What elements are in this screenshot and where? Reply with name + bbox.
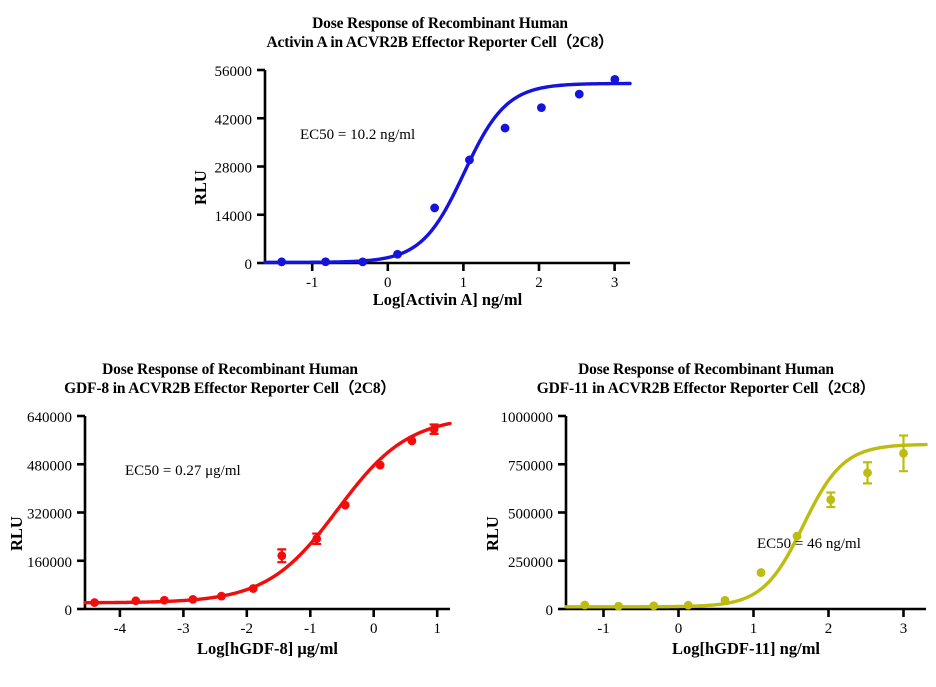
panel-title-gdf-8: Dose Response of Recombinant Human GDF-8… bbox=[0, 360, 460, 398]
x-tick-label: -1 bbox=[597, 621, 610, 634]
y-tick-label: 28000 bbox=[215, 161, 253, 177]
data-point bbox=[277, 257, 286, 266]
data-point bbox=[277, 551, 286, 560]
x-axis-gdf-11: -1 0 1 2 3 bbox=[566, 609, 926, 634]
x-tick-label: -2 bbox=[241, 621, 254, 634]
panel-title-gdf-11: Dose Response of Recombinant Human GDF-1… bbox=[476, 360, 936, 398]
y-tick-label: 250000 bbox=[508, 555, 553, 571]
panel-activin-a: Dose Response of Recombinant Human Activ… bbox=[180, 14, 700, 334]
y-tick-label: 0 bbox=[65, 603, 73, 619]
x-tick-label: 1 bbox=[433, 621, 441, 634]
x-tick-label: -3 bbox=[177, 621, 190, 634]
x-axis-activin-a: -1 0 1 2 3 bbox=[265, 263, 630, 288]
data-point bbox=[393, 250, 402, 259]
plot-area-gdf-11: 1000000 750000 500000 250000 0 -1 bbox=[476, 404, 936, 634]
panel-title-line1: Dose Response of Recombinant Human bbox=[0, 360, 460, 379]
panel-title-activin-a: Dose Response of Recombinant Human Activ… bbox=[180, 14, 700, 52]
x-tick-label: 0 bbox=[384, 275, 392, 288]
y-tick-label: 320000 bbox=[27, 507, 72, 523]
x-axis-label-activin-a: Log[Activin A] ng/ml bbox=[265, 290, 630, 310]
data-point bbox=[376, 461, 385, 470]
data-point bbox=[312, 534, 321, 543]
panel-title-line2: GDF-8 in ACVR2B Effector Reporter Cell（2… bbox=[0, 379, 460, 398]
panel-title-line1: Dose Response of Recombinant Human bbox=[180, 14, 700, 33]
y-tick-label: 0 bbox=[245, 257, 253, 273]
y-tick-label: 56000 bbox=[215, 64, 253, 80]
panel-title-line2: GDF-11 in ACVR2B Effector Reporter Cell（… bbox=[476, 379, 936, 398]
data-point bbox=[575, 90, 584, 99]
ec50-annotation-gdf-11: EC50 = 46 ng/ml bbox=[757, 536, 861, 552]
plot-area-activin-a: 56000 42000 28000 14000 0 -1 bbox=[180, 58, 700, 288]
chart-svg-gdf-11: 1000000 750000 500000 250000 0 -1 bbox=[476, 404, 936, 634]
data-point bbox=[408, 436, 417, 445]
y-axis-label-gdf-11: RLU bbox=[483, 461, 503, 551]
data-point bbox=[321, 257, 330, 266]
data-point bbox=[465, 156, 474, 165]
x-axis-label-gdf-8: Log[hGDF-8] μg/ml bbox=[85, 639, 450, 659]
data-point bbox=[189, 595, 198, 604]
data-points-gdf-11 bbox=[580, 435, 908, 610]
chart-svg-gdf-8: 640000 480000 320000 160000 0 bbox=[0, 404, 460, 634]
y-tick-label: 500000 bbox=[508, 507, 553, 523]
y-tick-label: 42000 bbox=[215, 112, 253, 128]
plot-area-gdf-8: 640000 480000 320000 160000 0 bbox=[0, 404, 460, 634]
data-point bbox=[249, 584, 258, 593]
data-point bbox=[614, 602, 623, 611]
x-tick-label: -1 bbox=[306, 275, 319, 288]
fit-curve-activin-a bbox=[265, 84, 630, 263]
x-tick-label: 1 bbox=[460, 275, 468, 288]
x-tick-label: -1 bbox=[304, 621, 317, 634]
y-tick-label: 0 bbox=[546, 603, 554, 619]
ec50-annotation-activin-a: EC50 = 10.2 ng/ml bbox=[300, 127, 415, 143]
data-point bbox=[610, 75, 619, 84]
data-point bbox=[501, 124, 510, 133]
panel-title-line1: Dose Response of Recombinant Human bbox=[476, 360, 936, 379]
data-point bbox=[649, 601, 658, 610]
data-point bbox=[721, 596, 730, 605]
ec50-annotation-gdf-8: EC50 = 0.27 μg/ml bbox=[125, 463, 241, 479]
y-axis-gdf-8: 640000 480000 320000 160000 0 bbox=[27, 410, 85, 619]
y-axis-activin-a: 56000 42000 28000 14000 0 bbox=[215, 64, 266, 273]
x-tick-label: 1 bbox=[750, 621, 758, 634]
data-point bbox=[757, 568, 766, 577]
data-point bbox=[217, 592, 226, 601]
data-point bbox=[537, 103, 546, 112]
data-point bbox=[90, 598, 99, 607]
data-point bbox=[580, 601, 589, 610]
panel-gdf-11: Dose Response of Recombinant Human GDF-1… bbox=[476, 360, 936, 680]
x-tick-label: 3 bbox=[611, 275, 619, 288]
data-points-activin-a bbox=[277, 75, 619, 266]
x-tick-label: 0 bbox=[675, 621, 683, 634]
y-tick-label: 14000 bbox=[215, 209, 253, 225]
data-point bbox=[863, 468, 872, 477]
data-point bbox=[899, 449, 908, 458]
chart-svg-activin-a: 56000 42000 28000 14000 0 -1 bbox=[180, 58, 640, 288]
fit-curve-gdf-11 bbox=[566, 445, 926, 607]
data-point bbox=[430, 425, 439, 434]
x-axis-gdf-8: -4 -3 -2 -1 0 1 bbox=[85, 609, 450, 634]
data-point bbox=[358, 257, 367, 266]
y-axis-gdf-11: 1000000 750000 500000 250000 0 bbox=[501, 410, 567, 619]
y-tick-label: 640000 bbox=[27, 410, 72, 426]
data-point bbox=[826, 495, 835, 504]
panel-gdf-8: Dose Response of Recombinant Human GDF-8… bbox=[0, 360, 460, 680]
y-tick-label: 1000000 bbox=[501, 410, 554, 426]
x-tick-label: 2 bbox=[825, 621, 833, 634]
figure-root: Dose Response of Recombinant Human Activ… bbox=[0, 0, 936, 687]
x-tick-label: 2 bbox=[535, 275, 543, 288]
y-tick-label: 480000 bbox=[27, 458, 72, 474]
y-tick-label: 160000 bbox=[27, 555, 72, 571]
x-tick-label: -4 bbox=[114, 621, 127, 634]
x-tick-label: 0 bbox=[370, 621, 378, 634]
data-point bbox=[160, 596, 169, 605]
panel-title-line2: Activin A in ACVR2B Effector Reporter Ce… bbox=[180, 33, 700, 52]
data-point bbox=[341, 501, 350, 510]
data-point bbox=[430, 204, 439, 213]
x-axis-label-gdf-11: Log[hGDF-11] ng/ml bbox=[566, 639, 926, 659]
data-point bbox=[684, 601, 693, 610]
y-axis-label-gdf-8: RLU bbox=[7, 461, 27, 551]
fit-curve-gdf-8 bbox=[85, 423, 450, 602]
y-tick-label: 750000 bbox=[508, 458, 553, 474]
y-axis-label-activin-a: RLU bbox=[191, 115, 211, 205]
data-point bbox=[131, 596, 140, 605]
x-tick-label: 3 bbox=[900, 621, 908, 634]
